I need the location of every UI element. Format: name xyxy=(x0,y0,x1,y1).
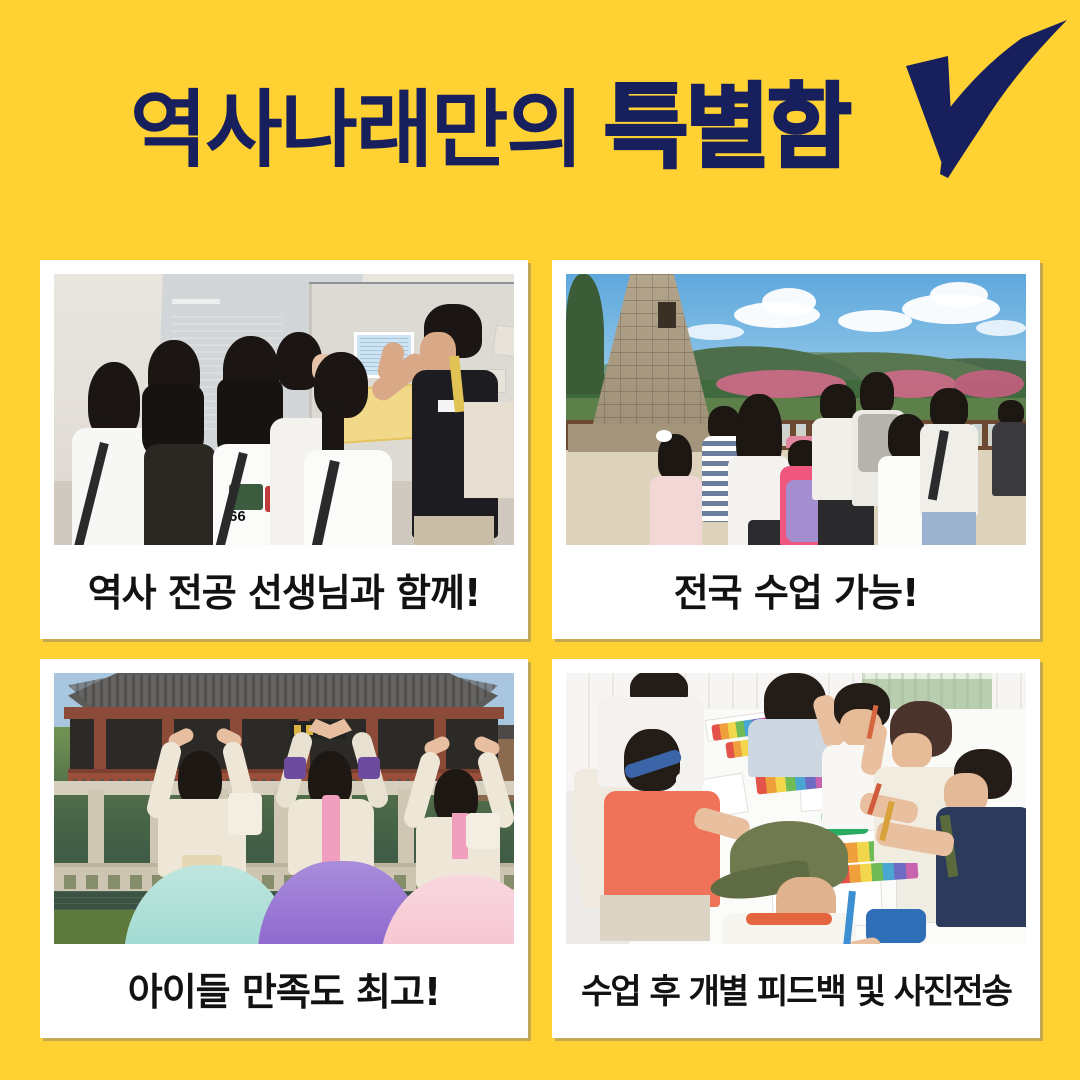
museum-teacher-with-students-photo: 66 xyxy=(54,274,514,545)
card-1-caption: 역사 전공 선생님과 함께! xyxy=(54,545,514,639)
navy-check-swoosh-icon xyxy=(862,14,1072,214)
card-2-caption: 전국 수업 가능! xyxy=(566,545,1026,639)
feature-card-grid: 66 역사 전공 선생님과 함께! xyxy=(40,260,1040,1038)
feature-card-4[interactable]: 수업 후 개별 피드백 및 사진전송 xyxy=(552,659,1040,1038)
title-light-part: 역사나래만의 xyxy=(130,83,582,177)
feature-card-3[interactable]: 아이들 만족도 최고! xyxy=(40,659,528,1038)
classroom-worksheet-activity-photo xyxy=(566,673,1026,944)
feature-card-2[interactable]: 전국 수업 가능! xyxy=(552,260,1040,639)
title-bold-part: 특별함 xyxy=(604,77,849,179)
hanbok-girls-palace-photo xyxy=(54,673,514,944)
page-title: 역사나래만의특별함 xyxy=(130,82,849,174)
header-banner: 역사나래만의특별함 xyxy=(0,0,1080,250)
card-4-caption: 수업 후 개별 피드백 및 사진전송 xyxy=(566,944,1026,1038)
feature-card-1[interactable]: 66 역사 전공 선생님과 함께! xyxy=(40,260,528,639)
card-3-caption: 아이들 만족도 최고! xyxy=(54,944,514,1038)
cheomseongdae-field-trip-photo xyxy=(566,274,1026,545)
